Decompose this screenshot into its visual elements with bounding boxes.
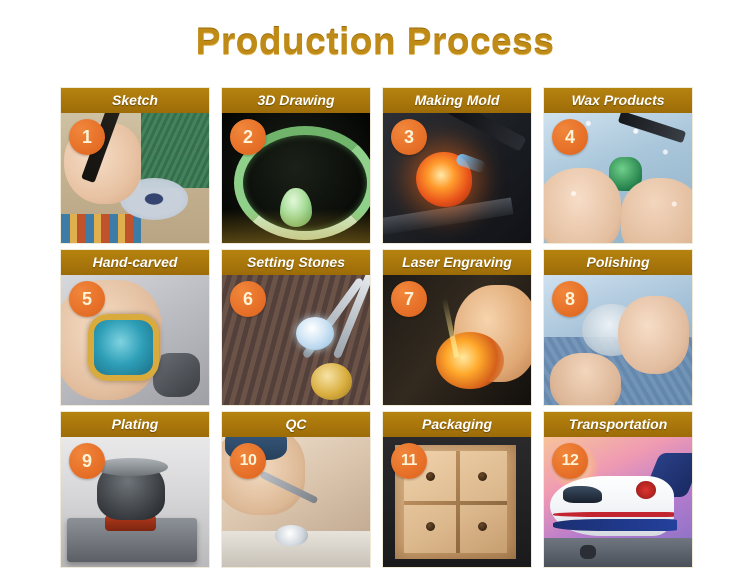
step-label: Setting Stones	[222, 250, 370, 275]
photo-detail	[553, 519, 677, 531]
step-label: Hand-carved	[61, 250, 209, 275]
step-number-badge: 12	[552, 443, 588, 479]
photo-detail	[61, 214, 141, 243]
step-photo: 2	[222, 113, 370, 243]
photo-detail	[544, 538, 692, 567]
step-photo: 1	[61, 113, 209, 243]
photo-detail	[404, 501, 508, 505]
process-step-card[interactable]: 3D Drawing 2	[222, 88, 370, 243]
step-label: Packaging	[383, 412, 531, 437]
photo-detail	[447, 113, 527, 152]
photo-detail	[275, 525, 308, 546]
process-step-card[interactable]: Wax Products 4	[544, 88, 692, 243]
step-label: Sketch	[61, 88, 209, 113]
step-photo: 7	[383, 275, 531, 405]
process-step-card[interactable]: Plating 9	[61, 412, 209, 567]
step-number-badge: 7	[391, 281, 427, 317]
step-number-badge: 4	[552, 119, 588, 155]
process-step-card[interactable]: Polishing 8	[544, 250, 692, 405]
step-label: QC	[222, 412, 370, 437]
step-number-badge: 10	[230, 443, 266, 479]
photo-detail	[563, 486, 601, 503]
photo-detail	[580, 545, 596, 559]
photo-detail	[222, 209, 370, 243]
step-number-badge: 9	[69, 443, 105, 479]
step-label: Making Mold	[383, 88, 531, 113]
step-photo: 6	[222, 275, 370, 405]
step-number-badge: 6	[230, 281, 266, 317]
step-number-badge: 3	[391, 119, 427, 155]
step-photo: 9	[61, 437, 209, 567]
step-photo: 4	[544, 113, 692, 243]
step-number-badge: 11	[391, 443, 427, 479]
photo-detail	[478, 522, 487, 531]
step-photo: 10	[222, 437, 370, 567]
step-number-badge: 1	[69, 119, 105, 155]
step-photo: 5	[61, 275, 209, 405]
step-number-badge: 2	[230, 119, 266, 155]
process-steps-grid: Sketch 1 3D Drawing 2 Making Mold	[61, 88, 693, 567]
process-step-card[interactable]: Packaging 11	[383, 412, 531, 567]
step-number-badge: 5	[69, 281, 105, 317]
step-label: Transportation	[544, 412, 692, 437]
step-label: Wax Products	[544, 88, 692, 113]
step-photo: 11	[383, 437, 531, 567]
photo-detail	[311, 363, 352, 399]
photo-detail	[426, 522, 435, 531]
step-photo: 12	[544, 437, 692, 567]
process-step-card[interactable]: Sketch 1	[61, 88, 209, 243]
photo-detail	[426, 472, 435, 481]
step-number-badge: 8	[552, 281, 588, 317]
page-title: Production Process	[0, 0, 750, 66]
process-step-card[interactable]: Laser Engraving 7	[383, 250, 531, 405]
photo-detail	[550, 353, 621, 405]
process-step-card[interactable]: Transportation 12	[544, 412, 692, 567]
step-label: Plating	[61, 412, 209, 437]
process-step-card[interactable]: Making Mold 3	[383, 88, 531, 243]
step-photo: 8	[544, 275, 692, 405]
step-label: 3D Drawing	[222, 88, 370, 113]
process-step-card[interactable]: Setting Stones 6	[222, 250, 370, 405]
process-step-card[interactable]: Hand-carved 5	[61, 250, 209, 405]
photo-detail	[88, 314, 159, 381]
step-label: Laser Engraving	[383, 250, 531, 275]
photo-detail	[296, 317, 334, 351]
step-label: Polishing	[544, 250, 692, 275]
photo-detail	[618, 296, 689, 374]
step-photo: 3	[383, 113, 531, 243]
photo-detail	[478, 472, 487, 481]
process-step-card[interactable]: QC 10	[222, 412, 370, 567]
